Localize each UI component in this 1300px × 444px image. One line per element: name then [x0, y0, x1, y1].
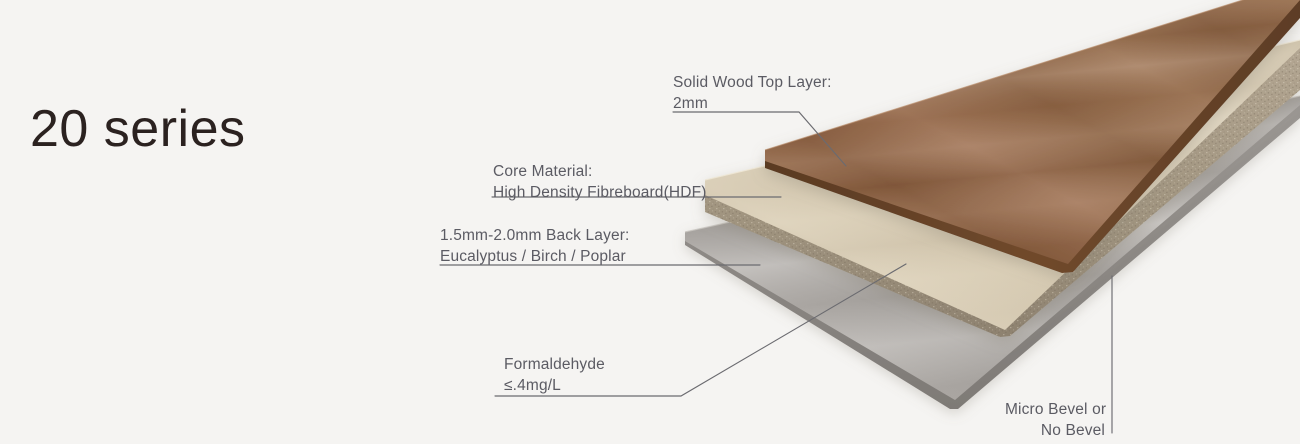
callout-solid-wood-top-layer-line2: 2mm: [673, 93, 832, 114]
flooring-construction-diagram: 20 series Solid Wood Top Layer: 2mm Core…: [0, 0, 1300, 444]
callout-bevel-line2: No Bevel: [1005, 420, 1105, 441]
text-overlay: 20 series Solid Wood Top Layer: 2mm Core…: [0, 0, 1300, 444]
callout-bevel: Micro Bevel or No Bevel: [1005, 399, 1105, 442]
callout-formaldehyde: Formaldehyde ≤.4mg/L: [504, 354, 605, 397]
callout-solid-wood-top-layer-line1: Solid Wood Top Layer:: [673, 74, 832, 91]
callout-back-layer-line2: Eucalyptus / Birch / Poplar: [440, 246, 630, 267]
callout-back-layer-line1: 1.5mm-2.0mm Back Layer:: [440, 227, 630, 244]
page-title: 20 series: [30, 103, 246, 155]
callout-solid-wood-top-layer: Solid Wood Top Layer: 2mm: [673, 72, 832, 115]
callout-formaldehyde-line2: ≤.4mg/L: [504, 375, 605, 396]
callout-core-material-line1: Core Material:: [493, 163, 592, 180]
callout-formaldehyde-line1: Formaldehyde: [504, 356, 605, 373]
callout-bevel-line1: Micro Bevel or: [1005, 401, 1106, 418]
callout-back-layer: 1.5mm-2.0mm Back Layer: Eucalyptus / Bir…: [440, 225, 630, 268]
callout-core-material-line2: High Density Fibreboard(HDF): [493, 182, 707, 203]
callout-core-material: Core Material: High Density Fibreboard(H…: [493, 161, 707, 204]
